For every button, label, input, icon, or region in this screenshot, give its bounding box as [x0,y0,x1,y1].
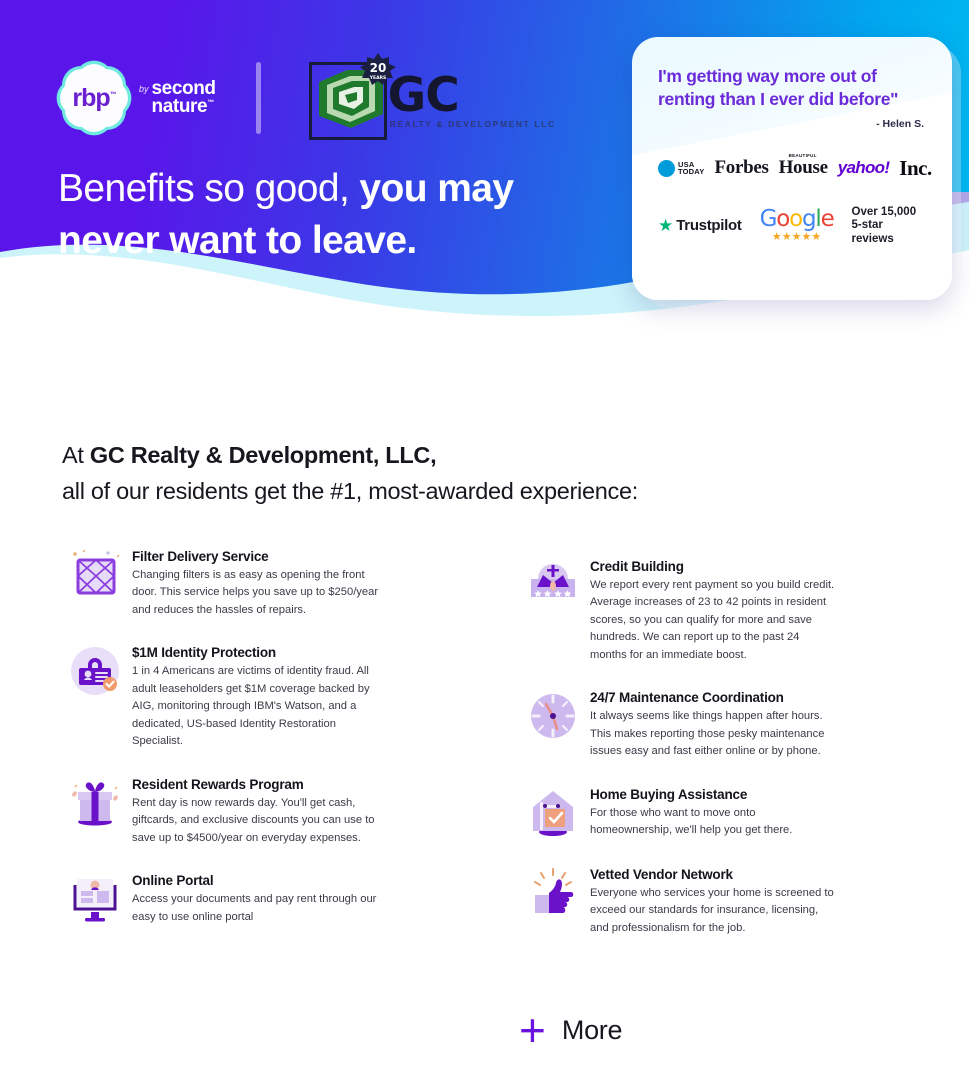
home-checkmark-icon [525,785,581,841]
benefits-column-left: Filter Delivery Service Changing filters… [58,545,458,949]
headline-bold-1: you may [359,167,513,210]
trustpilot-logo: ★ Trustpilot [658,217,742,234]
benefit-description: It always seems like things happen after… [590,708,838,760]
benefit-description: Rent day is now rewards day. You'll get … [132,795,380,847]
testimonial-quote: I'm getting way more out of renting than… [658,65,928,111]
yahoo-logo: yahoo! [838,158,890,178]
google-star-rating-icon: ★★★★★ [772,232,821,243]
more-label: More [562,1015,622,1046]
benefit-title: Credit Building [590,559,916,574]
trustpilot-star-icon: ★ [658,217,673,234]
clock-icon [525,688,581,744]
reviews-line-1: Over 15,000 [852,206,917,218]
benefit-description: Everyone who services your home is scree… [590,885,838,937]
reviews-logo-row: ★ Trustpilot Google ★★★★★ Over 15,000 5-… [658,206,928,247]
house-superscript: BEAUTIFUL [789,153,817,158]
gift-box-icon [67,775,123,831]
benefit-description: For those who want to move onto homeowne… [590,805,838,840]
hero-headline: Benefits so good, you may never want to … [58,163,618,267]
gc-subtitle: REALTY & DEVELOPMENT LLC [390,119,556,129]
benefits-column-right: Credit Building We report every rent pay… [516,555,916,959]
benefit-item: Filter Delivery Service Changing filters… [58,545,458,619]
credit-badge-stars-icon [525,557,581,613]
svg-text:YEARS: YEARS [368,75,386,81]
second-nature-line2: nature [152,96,208,117]
rbp-logo-mark: rbp™ [58,62,130,134]
usa-today-logo: USA TODAY [658,160,704,177]
google-logo: Google ★★★★★ [760,208,834,243]
benefit-title: Home Buying Assistance [590,787,916,802]
benefit-title: Vetted Vendor Network [590,867,916,882]
trustpilot-label: Trustpilot [676,217,741,234]
benefit-title: Resident Rewards Program [132,777,458,792]
gc-initials: GC [388,72,459,119]
gc-realty-logo: 20 YEARS GC REALTY & DEVELOPMENT LLC [303,52,558,144]
usa-today-dot-icon [658,160,675,177]
thumbs-up-icon [525,865,581,921]
google-o1: o [776,206,789,232]
benefit-description: Changing filters is as easy as opening t… [132,567,380,619]
testimonial-attribution: - Helen S. [658,118,928,130]
reviews-count: Over 15,000 5-star reviews [852,206,928,247]
benefit-title: 24/7 Maintenance Coordination [590,690,916,705]
intro-line-2: all of our residents get the #1, most-aw… [62,478,638,504]
more-benefits-row[interactable]: + More [519,1007,622,1053]
benefit-description: 1 in 4 Americans are victims of identity… [132,663,380,750]
google-e: e [821,206,834,232]
google-g2: g [802,206,815,232]
forbes-logo: Forbes [714,157,768,179]
benefit-item: Vetted Vendor Network Everyone who servi… [516,863,916,937]
benefit-title: Online Portal [132,873,458,888]
google-o2: o [789,206,802,232]
svg-text:20: 20 [369,61,386,75]
quote-line-1: I'm getting way more out of [658,66,877,86]
benefit-description: Access your documents and pay rent throu… [132,891,380,926]
house-beautiful-logo: BEAUTIFUL House [779,157,828,179]
intro-company-name: GC Realty & Development, LLC, [90,442,436,468]
benefit-item: $1M Identity Protection 1 in 4 Americans… [58,641,458,750]
by-label: by [139,84,149,94]
quote-line-2: renting than I ever did before" [658,89,898,109]
usa-today-line2: TODAY [678,167,704,176]
benefit-item: Resident Rewards Program Rent day is now… [58,773,458,847]
inc-logo: Inc. [899,156,931,181]
house-text: House [779,157,828,178]
headline-regular: Benefits so good, [58,167,359,210]
identity-card-lock-icon [67,643,123,699]
section-intro: At GC Realty & Development, LLC, all of … [62,437,822,509]
testimonial-card: I'm getting way more out of renting than… [632,37,952,300]
logo-bar: rbp™ by second nature™ 20 YEARS GC REALT… [58,52,558,144]
logo-divider [256,62,261,134]
second-nature-wordmark: by second nature™ [139,80,216,117]
benefit-title: $1M Identity Protection [132,645,458,660]
google-g1: G [760,206,777,232]
benefit-description: We report every rent payment so you buil… [590,577,838,664]
plus-icon: + [519,1007,546,1053]
press-logo-row: USA TODAY Forbes BEAUTIFUL House yahoo! … [658,156,928,181]
rbp-wordmark: rbp™ [72,86,115,111]
benefit-item: 24/7 Maintenance Coordination It always … [516,686,916,760]
headline-bold-2: never want to leave. [58,219,417,262]
air-filter-icon [67,547,123,603]
reviews-line-2: 5-star reviews [852,219,894,245]
benefit-item: Credit Building We report every rent pay… [516,555,916,664]
intro-prefix: At [62,442,90,468]
benefit-title: Filter Delivery Service [132,549,458,564]
benefit-item: Home Buying Assistance For those who wan… [516,783,916,841]
online-portal-monitor-icon [67,871,123,927]
benefit-item: Online Portal Access your documents and … [58,869,458,927]
